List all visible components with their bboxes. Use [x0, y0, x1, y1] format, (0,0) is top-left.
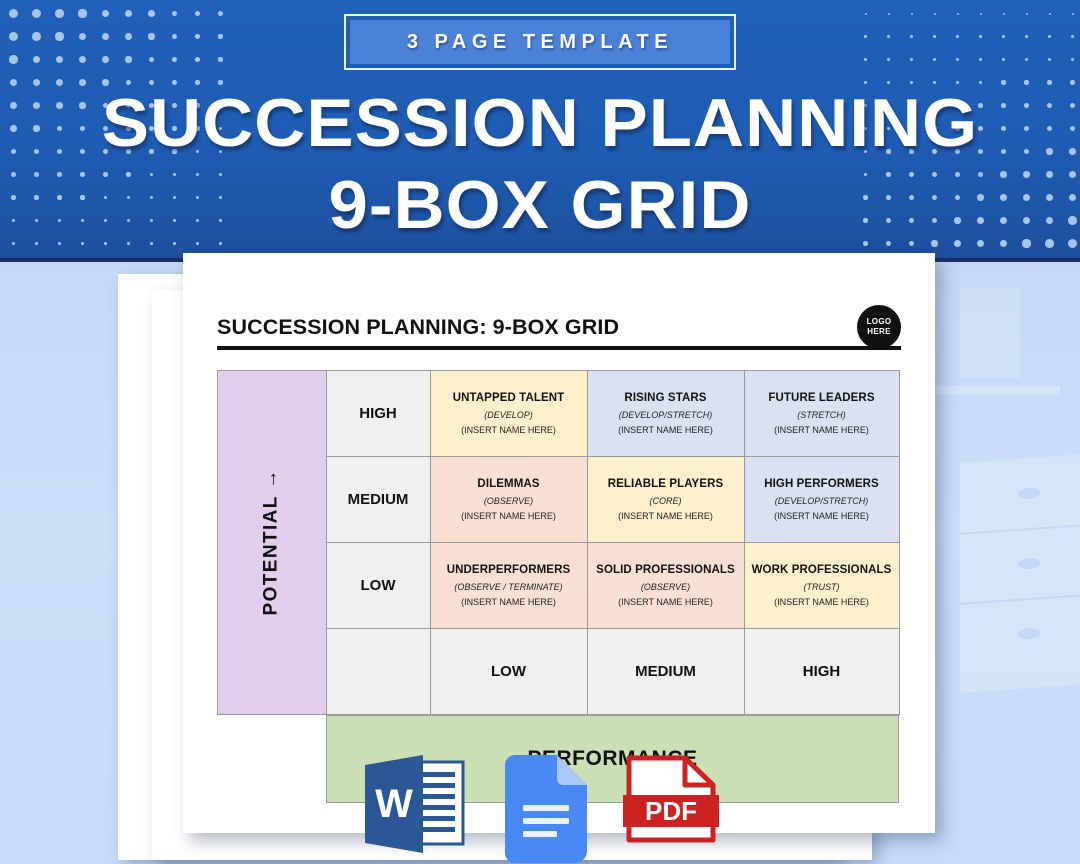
logo-placeholder-icon: LOGO HERE	[857, 305, 901, 349]
logo-line-1: LOGO	[867, 317, 892, 327]
column-label-high: HIGH	[744, 628, 900, 715]
potential-axis-band: POTENTIAL →	[217, 370, 327, 715]
document-title-rule	[217, 346, 901, 350]
cell-name[interactable]: (INSERT NAME HERE)	[461, 425, 556, 435]
cell-title: WORK PROFESSIONALS	[752, 564, 892, 576]
document-header: SUCCESSION PLANNING: 9-BOX GRID LOGO HER…	[217, 305, 901, 349]
hero-title-line-2: 9-BOX GRID	[0, 166, 1080, 244]
potential-axis-text: POTENTIAL	[261, 496, 282, 616]
document-title: SUCCESSION PLANNING: 9-BOX GRID	[217, 315, 619, 340]
column-label-medium: MEDIUM	[587, 628, 745, 715]
performance-axis-label: PERFORMANCE	[527, 747, 697, 771]
cell-title: DILEMMAS	[477, 478, 539, 490]
cell-action: (DEVELOP)	[484, 410, 533, 420]
cell-name[interactable]: (INSERT NAME HERE)	[774, 597, 869, 607]
cell-title: RISING STARS	[624, 392, 706, 404]
grid-cell-medium-medium[interactable]: RELIABLE PLAYERS (CORE) (INSERT NAME HER…	[587, 456, 745, 543]
cell-action: (OBSERVE)	[484, 496, 533, 506]
cell-title: UNDERPERFORMERS	[447, 564, 571, 576]
ghost-cabinet-handle-1	[1018, 487, 1040, 500]
grid-cell-medium-high[interactable]: HIGH PERFORMERS (DEVELOP/STRETCH) (INSER…	[744, 456, 900, 543]
cell-name[interactable]: (INSERT NAME HERE)	[618, 425, 713, 435]
badge-label: 3 PAGE TEMPLATE	[407, 31, 673, 54]
cell-action: (DEVELOP/STRETCH)	[775, 496, 869, 506]
cell-name[interactable]: (INSERT NAME HERE)	[618, 511, 713, 521]
badge-fill: 3 PAGE TEMPLATE	[350, 20, 730, 64]
row-label-high: HIGH	[326, 370, 431, 457]
grid-cell-medium-low[interactable]: DILEMMAS (OBSERVE) (INSERT NAME HERE)	[430, 456, 588, 543]
ghost-cabinet-line-1	[960, 523, 1080, 535]
grid-cell-low-medium[interactable]: SOLID PROFESSIONALS (OBSERVE) (INSERT NA…	[587, 542, 745, 629]
row-label-medium: MEDIUM	[326, 456, 431, 543]
cell-action: (OBSERVE)	[641, 582, 690, 592]
ghost-cabinet	[960, 453, 1080, 693]
ghost-shelf-book-6	[960, 288, 1020, 378]
cell-action: (CORE)	[650, 496, 682, 506]
cell-action: (DEVELOP/STRETCH)	[619, 410, 713, 420]
cell-name[interactable]: (INSERT NAME HERE)	[774, 425, 869, 435]
cell-title: UNTAPPED TALENT	[453, 392, 565, 404]
document-page: SUCCESSION PLANNING: 9-BOX GRID LOGO HER…	[183, 253, 935, 833]
cell-title: FUTURE LEADERS	[768, 392, 874, 404]
grid-cell-high-low[interactable]: UNTAPPED TALENT (DEVELOP) (INSERT NAME H…	[430, 370, 588, 457]
hero-title-line-1: SUCCESSION PLANNING	[0, 84, 1080, 162]
cell-name[interactable]: (INSERT NAME HERE)	[774, 511, 869, 521]
cell-title: RELIABLE PLAYERS	[608, 478, 724, 490]
hero-header: 3 PAGE TEMPLATE SUCCESSION PLANNING 9-BO…	[0, 0, 1080, 262]
potential-arrow-icon: →	[261, 468, 282, 488]
cell-action: (STRETCH)	[797, 410, 846, 420]
row-label-low: LOW	[326, 542, 431, 629]
cell-action: (OBSERVE / TERMINATE)	[454, 582, 562, 592]
grid-cell-high-high[interactable]: FUTURE LEADERS (STRETCH) (INSERT NAME HE…	[744, 370, 900, 457]
column-label-low: LOW	[430, 628, 588, 715]
ghost-cabinet-handle-2	[1018, 557, 1040, 570]
performance-axis-band: PERFORMANCE	[326, 715, 899, 803]
grid-cell-low-high[interactable]: WORK PROFESSIONALS (TRUST) (INSERT NAME …	[744, 542, 900, 629]
ghost-cabinet-line-2	[960, 593, 1080, 605]
logo-line-2: HERE	[867, 327, 890, 337]
cell-name[interactable]: (INSERT NAME HERE)	[461, 511, 556, 521]
cell-title: SOLID PROFESSIONALS	[596, 564, 735, 576]
ghost-cabinet-handle-3	[1018, 627, 1040, 640]
grid-corner-blank	[326, 628, 431, 715]
grid-cell-high-medium[interactable]: RISING STARS (DEVELOP/STRETCH) (INSERT N…	[587, 370, 745, 457]
cell-name[interactable]: (INSERT NAME HERE)	[618, 597, 713, 607]
cell-action: (TRUST)	[804, 582, 840, 592]
cell-title: HIGH PERFORMERS	[764, 478, 879, 490]
potential-axis-label: POTENTIAL →	[261, 468, 283, 615]
grid-cell-low-low[interactable]: UNDERPERFORMERS (OBSERVE / TERMINATE) (I…	[430, 542, 588, 629]
template-page-count-badge: 3 PAGE TEMPLATE	[344, 14, 736, 70]
cell-name[interactable]: (INSERT NAME HERE)	[461, 597, 556, 607]
